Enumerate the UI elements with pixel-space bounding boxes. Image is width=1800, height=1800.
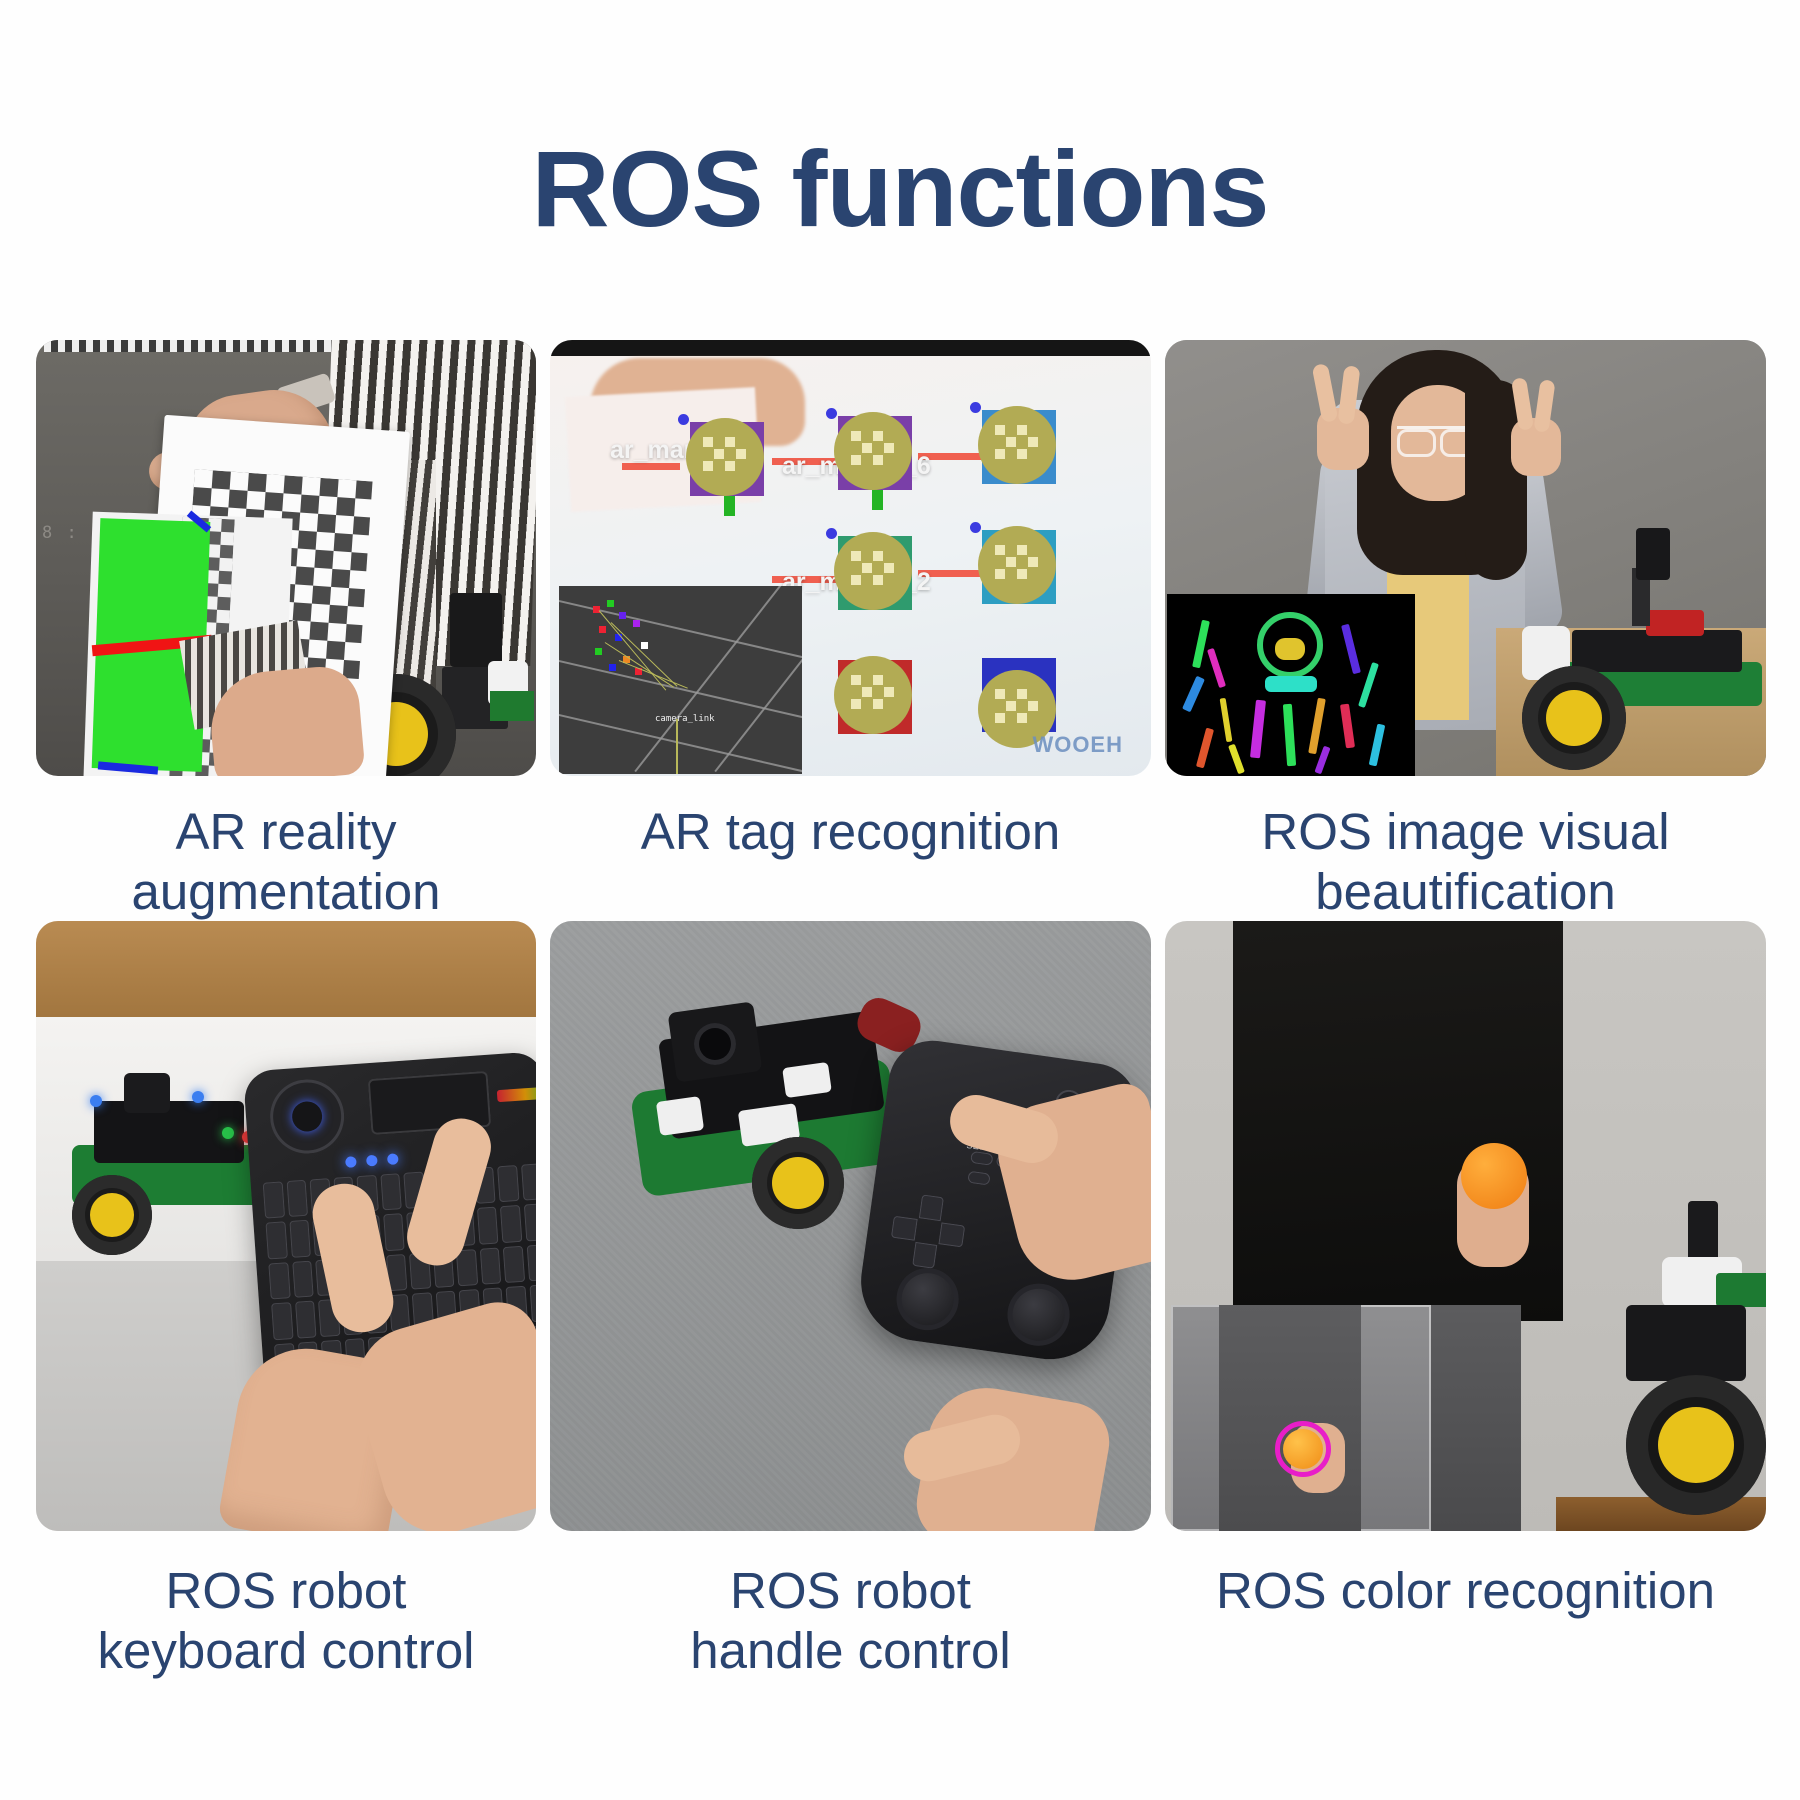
- feature-cell-ros-robot-keyboard-control: ROS robot keyboard control: [36, 921, 536, 1680]
- caption-line-2: augmentation: [42, 862, 530, 922]
- color-tracking-ring-decor: [1275, 1421, 1331, 1477]
- poster-root: ROS functions 8 : 30: [0, 0, 1800, 1800]
- feature-cell-ros-robot-handle-control: △○×◻ SELECT MODE START: [550, 921, 1151, 1680]
- caption-ros-robot-handle-control: ROS robot handle control: [550, 1561, 1151, 1680]
- ar-tag-marker: [834, 412, 912, 490]
- keyboard-led-indicators-decor: [345, 1154, 399, 1169]
- wood-wall-decor: [36, 921, 536, 1017]
- caption-line-1: AR tag recognition: [556, 802, 1145, 862]
- caption-ros-color-recognition: ROS color recognition: [1165, 1561, 1766, 1621]
- color-detection-inset: [1171, 1305, 1431, 1531]
- photo-ar-tag-recognition[interactable]: ar_marker_1 ar_marker_6 ar_marker_2: [550, 340, 1151, 776]
- ar-tag-marker: [686, 418, 764, 496]
- caption-ros-robot-keyboard-control: ROS robot keyboard control: [36, 1561, 536, 1680]
- caption-ros-image-visual-beautification: ROS image visual beautification: [1165, 802, 1766, 921]
- ar-tag-marker: [978, 526, 1056, 604]
- caption-line-1: AR reality: [42, 802, 530, 862]
- caption-line-1: ROS robot: [556, 1561, 1145, 1621]
- caption-line-1: ROS image visual: [1171, 802, 1760, 862]
- edge-detection-inset: [1167, 594, 1415, 776]
- ar-tag-marker: [834, 532, 912, 610]
- gamepad-left-stick-decor: [893, 1264, 963, 1334]
- caption-line-2: handle control: [556, 1621, 1145, 1681]
- gamepad-dpad-decor: [887, 1191, 968, 1272]
- screen-bezel-decor: [550, 340, 1151, 356]
- caption-ar-tag-recognition: AR tag recognition: [550, 802, 1151, 862]
- tag-axis-z: [826, 408, 837, 419]
- feature-cell-ros-image-visual-beautification: ROS image visual beautification: [1165, 340, 1766, 921]
- ar-tag-marker: [978, 406, 1056, 484]
- caption-ar-reality-augmentation: AR reality augmentation: [36, 802, 536, 921]
- tag-axis-z: [826, 528, 837, 539]
- feature-cell-ros-color-recognition: ROS color recognition: [1165, 921, 1766, 1680]
- feature-cell-ar-tag-recognition: ar_marker_1 ar_marker_6 ar_marker_2: [550, 340, 1151, 921]
- feature-grid: 8 : 30 AR re: [36, 340, 1766, 1681]
- caption-line-1: ROS color recognition: [1171, 1561, 1760, 1621]
- robot-car-decor: [1572, 1201, 1766, 1531]
- caption-line-2: keyboard control: [42, 1621, 530, 1681]
- tag-axis-z: [970, 402, 981, 413]
- gamepad-right-stick-decor: [1004, 1280, 1074, 1350]
- robot-car-decor: [1496, 516, 1766, 776]
- tag-axis-y: [724, 496, 735, 516]
- feature-cell-ar-reality-augmentation: 8 : 30 AR re: [36, 340, 536, 921]
- photo-ar-reality-augmentation[interactable]: 8 : 30: [36, 340, 536, 776]
- tag-axis-z: [678, 414, 689, 425]
- photo-ros-robot-handle-control[interactable]: △○×◻ SELECT MODE START: [550, 921, 1151, 1531]
- rviz-3d-view-inset: camera_link: [559, 586, 802, 774]
- keyboard-trackpad-ring-decor: [268, 1077, 347, 1156]
- photo-ros-color-recognition[interactable]: [1165, 921, 1766, 1531]
- tag-axis-z: [970, 522, 981, 533]
- caption-line-1: ROS robot: [42, 1561, 530, 1621]
- rviz-frame-label: camera_link: [655, 714, 715, 724]
- brand-logo: WOOEH: [1032, 732, 1123, 758]
- tag-axis-y: [872, 490, 883, 510]
- ar-tag-marker: [834, 656, 912, 734]
- page-title: ROS functions: [0, 130, 1800, 249]
- orange-ball-decor: [1461, 1143, 1527, 1209]
- photo-ros-robot-keyboard-control[interactable]: [36, 921, 536, 1531]
- caption-line-2: beautification: [1171, 862, 1760, 922]
- photo-ros-image-visual-beautification[interactable]: [1165, 340, 1766, 776]
